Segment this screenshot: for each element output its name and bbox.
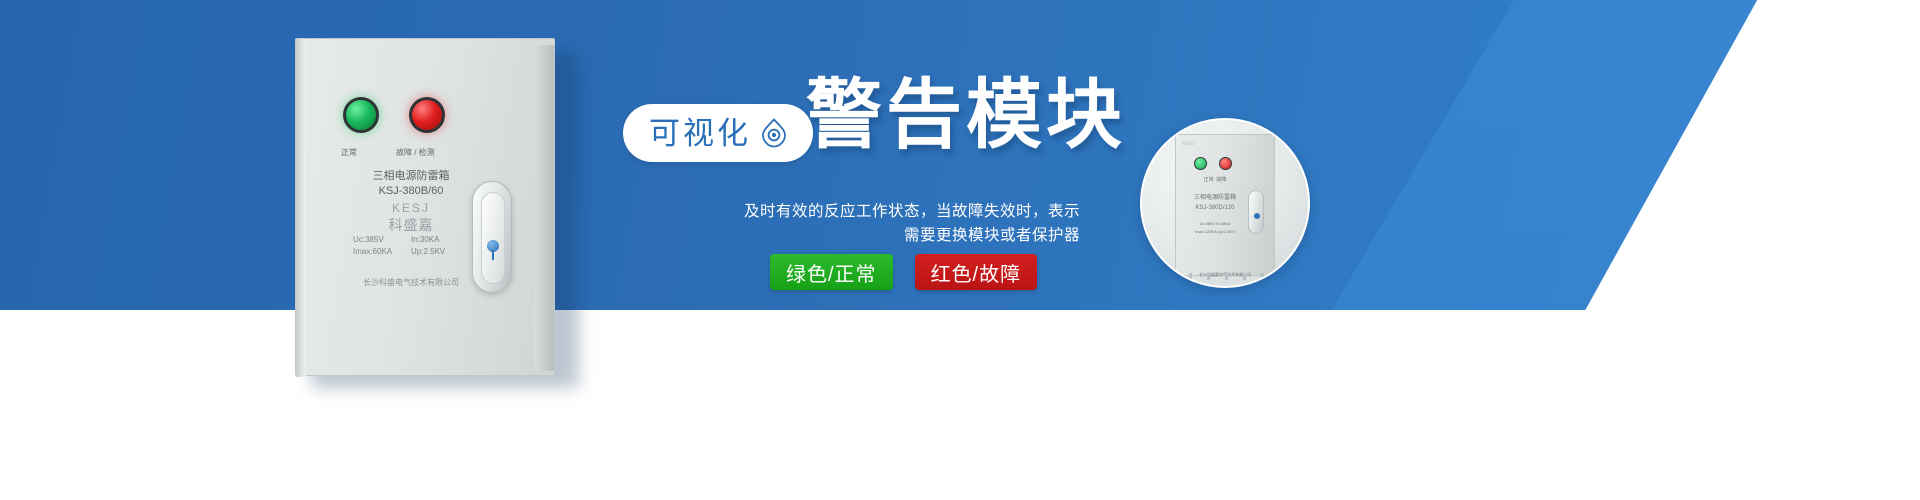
latch-keyhole-icon [487, 240, 499, 252]
product-spec-up: Up:2.5KV [411, 247, 469, 256]
inset-latch-keyhole-icon [1254, 213, 1260, 219]
visualization-pill[interactable]: 可视化 [623, 104, 813, 162]
status-badge-normal-label: 绿色/正常 [786, 258, 877, 287]
inset-cable-gland [1243, 273, 1246, 280]
banner-subtitle-line-1: 及时有效的反应工作状态，当故障失效时，表示 [640, 200, 1080, 224]
product-right-edge [534, 45, 554, 371]
lamp-label-green: 正常 [341, 147, 357, 158]
inset-lamp-labels: 正常 故障 [1176, 176, 1254, 183]
banner-subtitle: 及时有效的反应工作状态，当故障失效时，表示 需要更换模块或者保护器 [640, 200, 1080, 248]
inset-cable-gland [1189, 273, 1192, 280]
promo-banner: 正常 故障 / 检测 三相电源防雷箱 KSJ-380B/60 KESJ 科盛嘉 … [0, 0, 1920, 500]
banner-white-bottom-cut [0, 310, 1920, 500]
inset-lamp-label-red: 故障 [1216, 177, 1226, 183]
status-badge-fault[interactable]: 红色/故障 [915, 254, 1038, 290]
status-badge-fault-label: 红色/故障 [931, 258, 1022, 287]
door-latch-handle [472, 181, 512, 293]
product-spec-uc: Uc:385V [353, 235, 411, 244]
inset-door-latch-handle [1248, 190, 1264, 234]
indicator-lamp-red [409, 97, 445, 133]
inset-cable-glands [1175, 272, 1275, 280]
product-inset-circle: KESJ 正常 故障 三相电源防雷箱 KSJ-380D/120 Uc:385V … [1140, 118, 1310, 288]
inset-spec-row-1: Uc:385V In:40KA [1176, 221, 1254, 226]
status-badge-normal[interactable]: 绿色/正常 [770, 254, 893, 290]
inset-indicator-lamp-red [1219, 157, 1232, 170]
inset-spec-row-2: Imax:120KA Up:2.5KV [1176, 229, 1254, 234]
door-latch-inner [481, 192, 505, 284]
inset-cable-gland [1207, 273, 1210, 280]
inset-model-title: 三相电源防雷箱 [1176, 192, 1254, 201]
inset-cable-gland [1225, 273, 1228, 280]
visualization-pill-label: 可视化 [649, 118, 751, 149]
inset-lamp-label-green: 正常 [1204, 177, 1214, 183]
product-image: 正常 故障 / 检测 三相电源防雷箱 KSJ-380B/60 KESJ 科盛嘉 … [295, 38, 555, 376]
product-spec-in: In:30KA [411, 235, 469, 244]
banner-title: 警告模块 [806, 78, 1126, 154]
inset-product-enclosure: KESJ 正常 故障 三相电源防雷箱 KSJ-380D/120 Uc:385V … [1175, 134, 1275, 276]
product-enclosure: 正常 故障 / 检测 三相电源防雷箱 KSJ-380B/60 KESJ 科盛嘉 … [295, 38, 555, 376]
status-badge-group: 绿色/正常 红色/故障 [770, 254, 1037, 290]
indicator-lamp-green [343, 97, 379, 133]
inset-indicator-lamp-green [1194, 157, 1207, 170]
inset-brand-latin: KESJ [1182, 141, 1195, 147]
lamp-label-red: 故障 / 检测 [396, 147, 435, 158]
product-spec-imax: Imax:60KA [353, 247, 411, 256]
inset-model-code: KSJ-380D/120 [1176, 205, 1254, 211]
banner-subtitle-line-2: 需要更换模块或者保护器 [640, 224, 1080, 248]
eye-location-icon [761, 118, 787, 148]
inset-cable-gland [1261, 273, 1264, 280]
